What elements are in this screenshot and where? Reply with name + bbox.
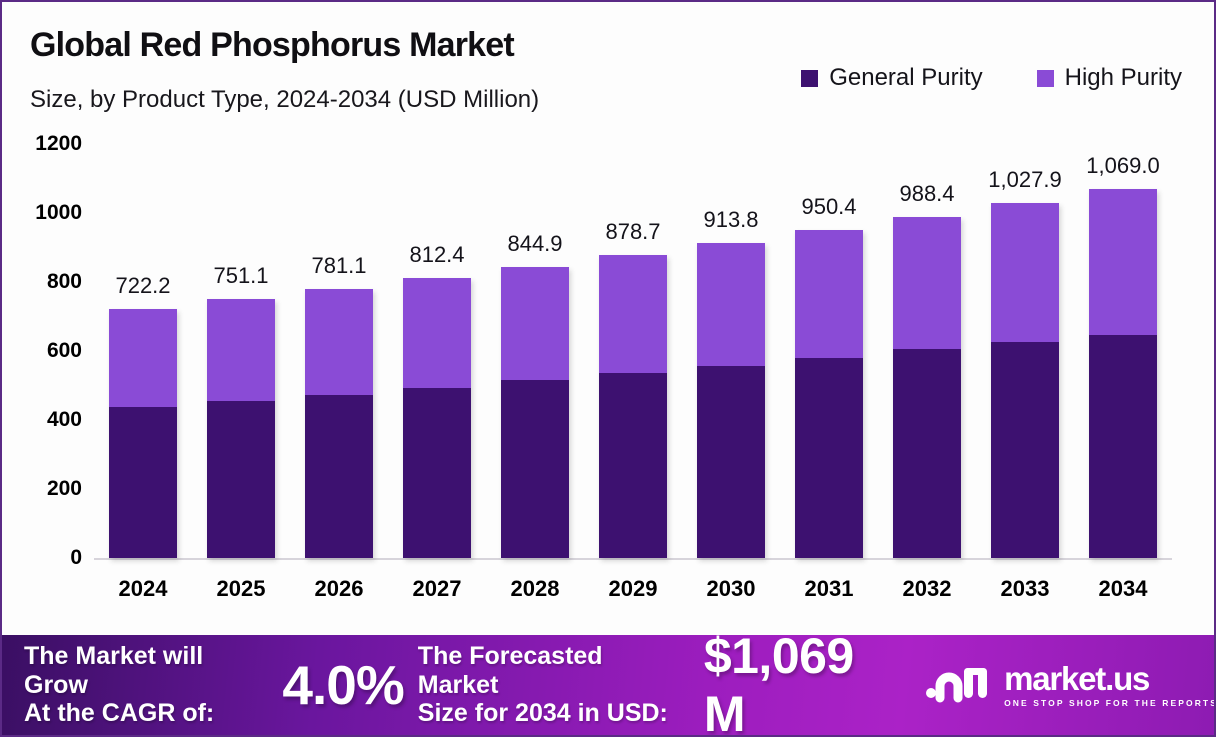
logo-tagline: ONE STOP SHOP FOR THE REPORTS <box>1004 698 1216 708</box>
chart-card: Global Red Phosphorus Market Size, by Pr… <box>0 0 1216 737</box>
y-axis-tick-label: 400 <box>20 408 82 432</box>
y-axis-tick-label: 1200 <box>20 132 82 156</box>
bar-value-label: 781.1 <box>311 253 366 279</box>
x-axis-label-2029: 2029 <box>584 576 682 602</box>
bar-segment-high-purity[interactable] <box>893 217 961 349</box>
bar-segment-general-purity[interactable] <box>599 373 667 558</box>
bar-segment-high-purity[interactable] <box>501 267 569 381</box>
stacked-bar[interactable] <box>893 217 961 558</box>
legend-item-general-purity[interactable]: General Purity <box>801 64 982 92</box>
cagr-label-line-2: At the CAGR of: <box>24 699 266 728</box>
stacked-bar[interactable] <box>1089 189 1157 558</box>
stacked-bar[interactable] <box>697 243 765 558</box>
stacked-bar[interactable] <box>305 289 373 558</box>
legend-item-label: High Purity <box>1065 64 1182 92</box>
x-axis-label-2028: 2028 <box>486 576 584 602</box>
stacked-bar[interactable] <box>207 299 275 558</box>
bar-segment-general-purity[interactable] <box>795 358 863 558</box>
bar-value-label: 1,069.0 <box>1086 153 1159 179</box>
y-axis-tick-label: 0 <box>20 546 82 570</box>
bar-group-2025[interactable]: 751.1 <box>192 144 290 558</box>
bar-segment-general-purity[interactable] <box>501 380 569 558</box>
cagr-label-line-1: The Market will Grow <box>24 642 266 699</box>
stacked-bar[interactable] <box>599 255 667 558</box>
bar-value-label: 913.8 <box>703 207 758 233</box>
bar-segment-general-purity[interactable] <box>697 366 765 558</box>
bar-segment-high-purity[interactable] <box>795 230 863 358</box>
bar-segment-general-purity[interactable] <box>109 407 177 558</box>
chart-legend: General PurityHigh Purity <box>801 64 1182 92</box>
x-axis-label-2026: 2026 <box>290 576 388 602</box>
bar-segment-general-purity[interactable] <box>893 349 961 558</box>
chart-subtitle: Size, by Product Type, 2024-2034 (USD Mi… <box>30 86 539 114</box>
stacked-bar[interactable] <box>403 278 471 558</box>
bar-segment-high-purity[interactable] <box>305 289 373 395</box>
stacked-bar[interactable] <box>795 230 863 558</box>
bar-group-2033[interactable]: 1,027.9 <box>976 144 1074 558</box>
x-axis-label-2027: 2027 <box>388 576 486 602</box>
forecast-size-label: The Forecasted Market Size for 2034 in U… <box>418 642 682 728</box>
market-us-logo-text: market.us ONE STOP SHOP FOR THE REPORTS <box>1004 662 1216 708</box>
bar-segment-general-purity[interactable] <box>1089 335 1157 558</box>
bar-group-2026[interactable]: 781.1 <box>290 144 388 558</box>
bar-series-group: 722.2751.1781.1812.4844.9878.7913.8950.4… <box>94 144 1172 558</box>
chart-header: Global Red Phosphorus Market Size, by Pr… <box>2 2 1216 128</box>
y-axis-tick-label: 600 <box>20 339 82 363</box>
bar-group-2031[interactable]: 950.4 <box>780 144 878 558</box>
bar-group-2034[interactable]: 1,069.0 <box>1074 144 1172 558</box>
market-us-logo-icon <box>924 660 994 711</box>
bar-segment-high-purity[interactable] <box>403 278 471 389</box>
stacked-bar[interactable] <box>501 267 569 558</box>
bar-group-2024[interactable]: 722.2 <box>94 144 192 558</box>
legend-swatch-general-purity <box>801 70 818 87</box>
bar-group-2030[interactable]: 913.8 <box>682 144 780 558</box>
forecast-size-label-line-2: Size for 2034 in USD: <box>418 699 682 728</box>
forecast-size-label-line-1: The Forecasted Market <box>418 642 682 699</box>
bar-value-label: 844.9 <box>507 231 562 257</box>
x-axis-line <box>94 558 1172 560</box>
cagr-label: The Market will Grow At the CAGR of: <box>24 642 266 728</box>
bar-value-label: 988.4 <box>899 181 954 207</box>
y-axis-tick-label: 800 <box>20 270 82 294</box>
x-axis-label-2031: 2031 <box>780 576 878 602</box>
x-axis-label-2025: 2025 <box>192 576 290 602</box>
x-axis-label-2032: 2032 <box>878 576 976 602</box>
bar-segment-high-purity[interactable] <box>109 309 177 407</box>
bar-segment-general-purity[interactable] <box>207 401 275 558</box>
bar-segment-general-purity[interactable] <box>305 395 373 558</box>
legend-item-high-purity[interactable]: High Purity <box>1037 64 1182 92</box>
x-axis-label-2034: 2034 <box>1074 576 1172 602</box>
bar-value-label: 1,027.9 <box>988 167 1061 193</box>
bar-value-label: 878.7 <box>605 219 660 245</box>
bar-segment-general-purity[interactable] <box>991 342 1059 558</box>
bar-segment-high-purity[interactable] <box>697 243 765 366</box>
market-us-logo[interactable]: market.us ONE STOP SHOP FOR THE REPORTS <box>924 660 1216 711</box>
forecast-size-value: $1,069 M <box>704 627 902 737</box>
bar-value-label: 751.1 <box>213 263 268 289</box>
bar-value-label: 812.4 <box>409 242 464 268</box>
x-axis-label-2024: 2024 <box>94 576 192 602</box>
footer-banner: The Market will Grow At the CAGR of: 4.0… <box>2 635 1216 735</box>
bar-segment-high-purity[interactable] <box>1089 189 1157 335</box>
bar-value-label: 950.4 <box>801 194 856 220</box>
stacked-bar[interactable] <box>109 309 177 558</box>
legend-swatch-high-purity <box>1037 70 1054 87</box>
bar-value-label: 722.2 <box>115 273 170 299</box>
y-axis-tick-label: 200 <box>20 477 82 501</box>
stacked-bar[interactable] <box>991 203 1059 558</box>
x-axis-labels: 2024202520262027202820292030203120322033… <box>94 576 1172 602</box>
cagr-value: 4.0% <box>282 653 403 717</box>
bar-segment-high-purity[interactable] <box>599 255 667 373</box>
bar-group-2028[interactable]: 844.9 <box>486 144 584 558</box>
bar-group-2027[interactable]: 812.4 <box>388 144 486 558</box>
chart-plot-area: 020040060080010001200 722.2751.1781.1812… <box>2 128 1216 622</box>
page-title: Global Red Phosphorus Market <box>30 26 514 65</box>
bar-group-2029[interactable]: 878.7 <box>584 144 682 558</box>
x-axis-label-2030: 2030 <box>682 576 780 602</box>
bar-group-2032[interactable]: 988.4 <box>878 144 976 558</box>
y-axis-tick-label: 1000 <box>20 201 82 225</box>
x-axis-label-2033: 2033 <box>976 576 1074 602</box>
bar-segment-high-purity[interactable] <box>991 203 1059 342</box>
legend-item-label: General Purity <box>829 64 982 92</box>
bar-segment-high-purity[interactable] <box>207 299 275 401</box>
bar-segment-general-purity[interactable] <box>403 388 471 558</box>
logo-wordmark: market.us <box>1004 662 1216 695</box>
